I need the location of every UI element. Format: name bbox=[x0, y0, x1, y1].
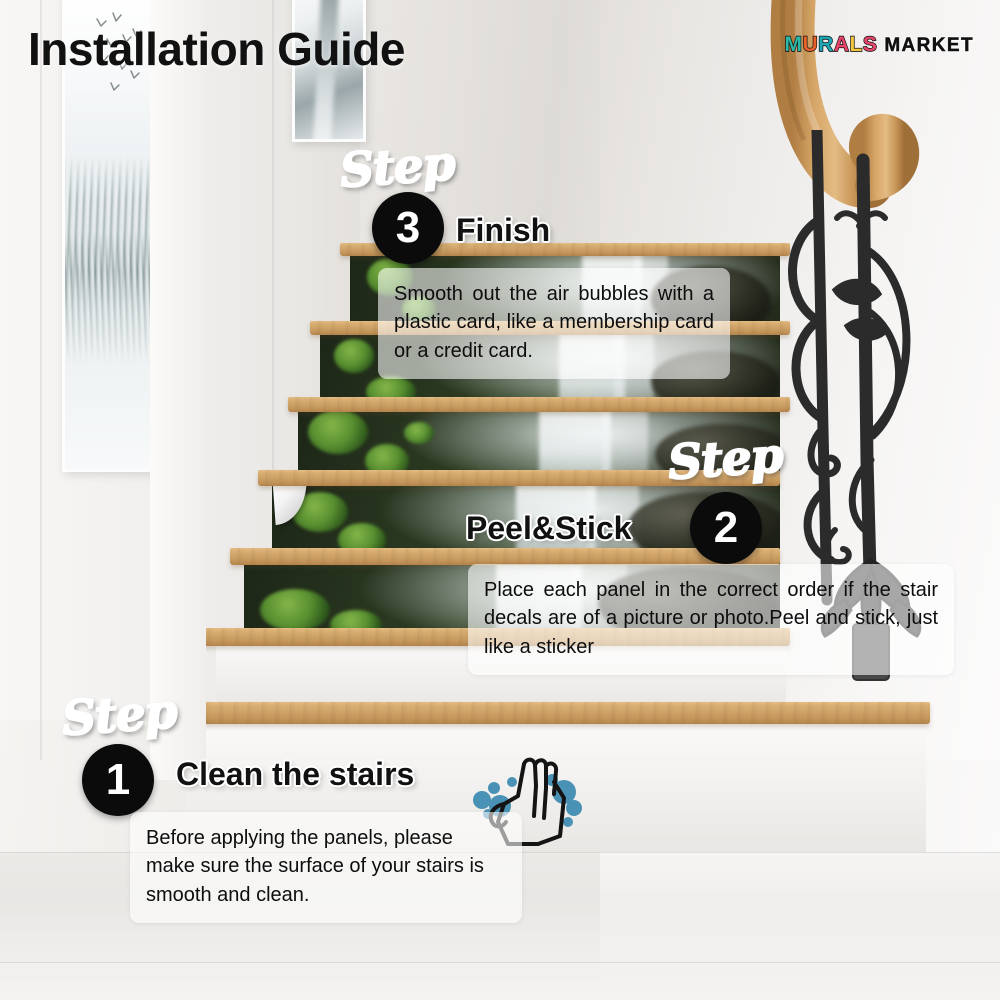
installation-guide-infographic: Installation Guide M U R A L S MARKET St… bbox=[0, 0, 1000, 1000]
step-2-body-panel: Place each panel in the correct order if… bbox=[468, 564, 954, 675]
step-1-body-panel: Before applying the panels, please make … bbox=[130, 812, 522, 923]
logo-letter: U bbox=[802, 33, 818, 57]
page-title: Installation Guide bbox=[28, 22, 405, 76]
logo-letter: A bbox=[834, 33, 850, 57]
floor-reflection bbox=[600, 852, 1000, 1000]
step-3-number-badge: 3 bbox=[372, 192, 444, 264]
step-3-word: Step bbox=[338, 136, 456, 199]
logo-letter: S bbox=[863, 33, 878, 57]
stair-tread bbox=[288, 397, 790, 412]
step-1-number-badge: 1 bbox=[82, 744, 154, 816]
step-2-number-badge: 2 bbox=[690, 492, 762, 564]
step-3-heading: Finish bbox=[456, 212, 550, 249]
step-2-word: Step bbox=[666, 428, 784, 491]
step-2-heading: Peel&Stick bbox=[466, 510, 631, 547]
brand-logo[interactable]: M U R A L S MARKET bbox=[784, 33, 974, 57]
logo-letter: L bbox=[849, 33, 862, 57]
stair-stringer bbox=[150, 0, 206, 780]
logo-murals-word: M U R A L S bbox=[784, 33, 877, 57]
logo-market-word: MARKET bbox=[884, 35, 974, 57]
logo-letter: M bbox=[784, 33, 802, 57]
step-1-word: Step bbox=[60, 684, 178, 747]
wall-seam bbox=[40, 0, 42, 760]
step-3-body-panel: Smooth out the air bubbles with a plasti… bbox=[378, 268, 730, 379]
step-1-heading: Clean the stairs bbox=[176, 756, 414, 793]
logo-letter: R bbox=[818, 33, 834, 57]
